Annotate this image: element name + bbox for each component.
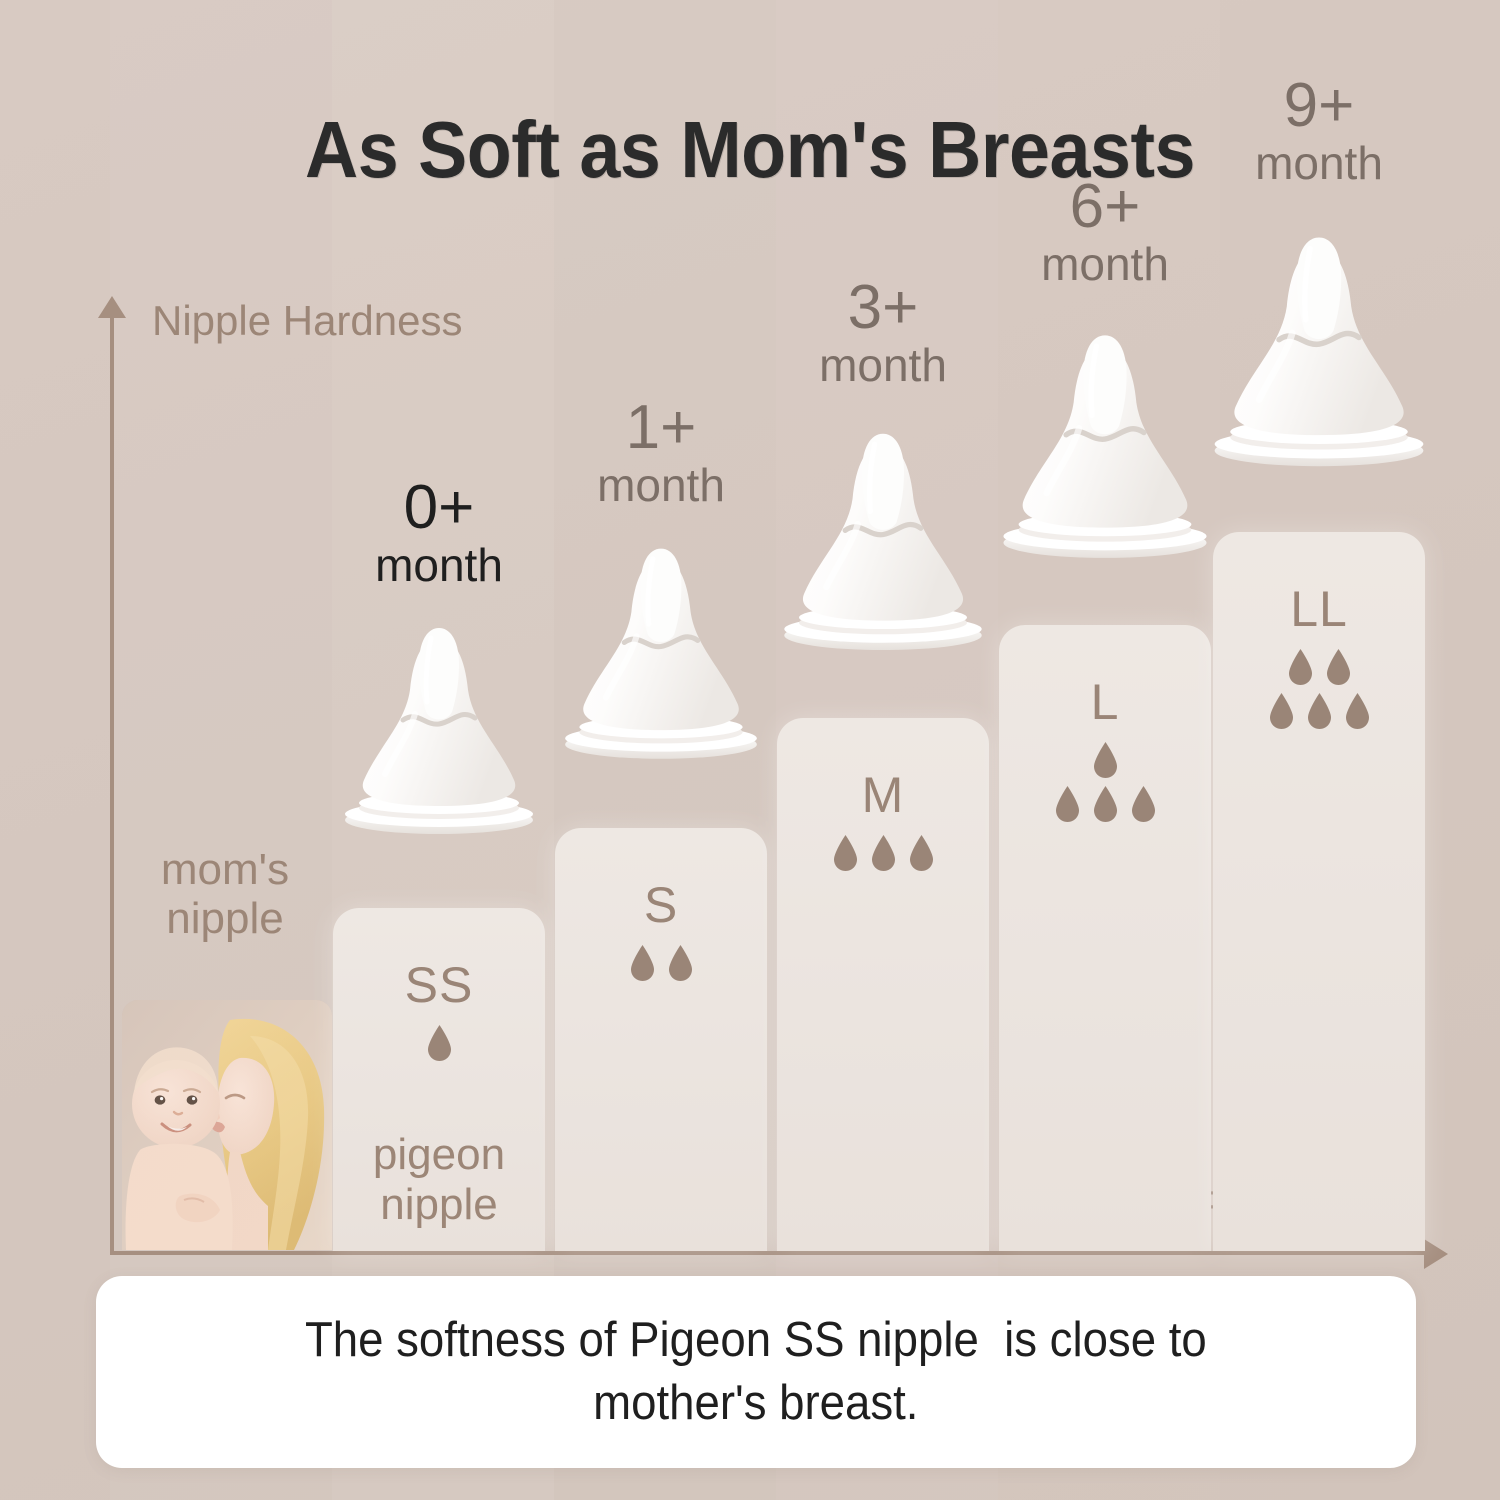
water-droplet-icon — [667, 944, 694, 982]
water-droplet-icon — [870, 834, 897, 872]
y-axis-label: Nipple Hardness — [152, 297, 463, 345]
bar-column-s: 1+month S — [555, 828, 767, 1251]
flow-size-label: S — [555, 880, 767, 930]
bar-content: LL — [1213, 584, 1425, 730]
month-unit: month — [768, 343, 998, 388]
water-droplet-icon — [1287, 648, 1314, 686]
water-droplet-icon — [1268, 692, 1295, 730]
y-axis-arrow-icon — [98, 296, 126, 318]
bar-ss[interactable]: SS pigeonnipple — [333, 908, 545, 1251]
month-number: 9+ — [1204, 76, 1434, 137]
column-band-0 — [110, 0, 332, 1500]
bar-content: S — [555, 880, 767, 982]
month-label-ss: 0+month — [324, 478, 554, 588]
x-axis-arrow-icon — [1424, 1239, 1448, 1269]
droplet-row — [832, 834, 935, 872]
caption-text: The softness of Pigeon SS nipple is clos… — [305, 1309, 1207, 1434]
nipple-image-ll — [1208, 204, 1430, 482]
flow-size-label: L — [999, 677, 1211, 727]
water-droplet-icon — [1306, 692, 1333, 730]
bar-content: SS — [333, 960, 545, 1062]
bar-m[interactable]: M — [777, 718, 989, 1251]
water-droplet-icon — [629, 944, 656, 982]
flow-droplet-group — [333, 1024, 545, 1062]
flow-droplet-group — [555, 944, 767, 982]
droplet-row — [1268, 692, 1371, 730]
y-axis-line — [110, 310, 114, 1255]
nipple-image-ss — [339, 598, 539, 848]
water-droplet-icon — [1092, 741, 1119, 779]
month-label-m: 3+month — [768, 278, 998, 388]
bar-column-m: 3+month M — [777, 718, 989, 1251]
moms-nipple-label-line1: mom's — [161, 845, 289, 894]
month-number: 0+ — [324, 478, 554, 539]
bar-column-ss: 0+month SS pigeonnipple — [333, 908, 545, 1251]
month-number: 3+ — [768, 278, 998, 339]
flow-size-label: LL — [1213, 584, 1425, 634]
month-label-s: 1+month — [546, 398, 776, 508]
droplet-row — [629, 944, 694, 982]
bar-content: L — [999, 677, 1211, 823]
bar-column-ll: 9+month LL — [1213, 532, 1425, 1251]
month-label-l: 6+month — [990, 177, 1220, 287]
caption-box: The softness of Pigeon SS nipple is clos… — [96, 1276, 1416, 1468]
x-axis-line — [110, 1251, 1432, 1255]
water-droplet-icon — [1092, 785, 1119, 823]
flow-size-label: SS — [333, 960, 545, 1010]
water-droplet-icon — [1325, 648, 1352, 686]
flow-droplet-group — [999, 741, 1211, 823]
flow-size-label: M — [777, 770, 989, 820]
infographic-canvas: As Soft as Mom's Breasts Nipple Hardness… — [0, 0, 1500, 1500]
month-unit: month — [546, 463, 776, 508]
moms-nipple-label-line2: nipple — [166, 894, 283, 943]
nipple-image-l — [997, 303, 1213, 573]
water-droplet-icon — [1344, 692, 1371, 730]
flow-droplet-group — [1213, 648, 1425, 730]
water-droplet-icon — [908, 834, 935, 872]
pigeon-nipple-label: pigeonnipple — [333, 1130, 545, 1229]
pigeon-label-line1: pigeon — [373, 1130, 505, 1179]
nipple-image-m — [778, 402, 988, 665]
mother-baby-photo — [122, 1000, 332, 1250]
water-droplet-icon — [426, 1024, 453, 1062]
droplet-row — [1287, 648, 1352, 686]
month-number: 1+ — [546, 398, 776, 459]
bar-ll[interactable]: LL — [1213, 532, 1425, 1251]
droplet-row — [1054, 785, 1157, 823]
flow-droplet-group — [777, 834, 989, 872]
month-number: 6+ — [990, 177, 1220, 238]
droplet-row — [1092, 741, 1119, 779]
month-unit: month — [324, 543, 554, 588]
droplet-row — [426, 1024, 453, 1062]
month-unit: month — [1204, 141, 1434, 186]
moms-nipple-label: mom's nipple — [125, 845, 325, 944]
bar-l[interactable]: L — [999, 625, 1211, 1251]
pigeon-label-line2: nipple — [380, 1180, 497, 1229]
bar-content: M — [777, 770, 989, 872]
water-droplet-icon — [1130, 785, 1157, 823]
month-label-ll: 9+month — [1204, 76, 1434, 186]
water-droplet-icon — [832, 834, 859, 872]
water-droplet-icon — [1054, 785, 1081, 823]
month-unit: month — [990, 242, 1220, 287]
nipple-image-s — [559, 518, 763, 773]
bar-column-l: 6+month L — [999, 625, 1211, 1251]
bar-s[interactable]: S — [555, 828, 767, 1251]
